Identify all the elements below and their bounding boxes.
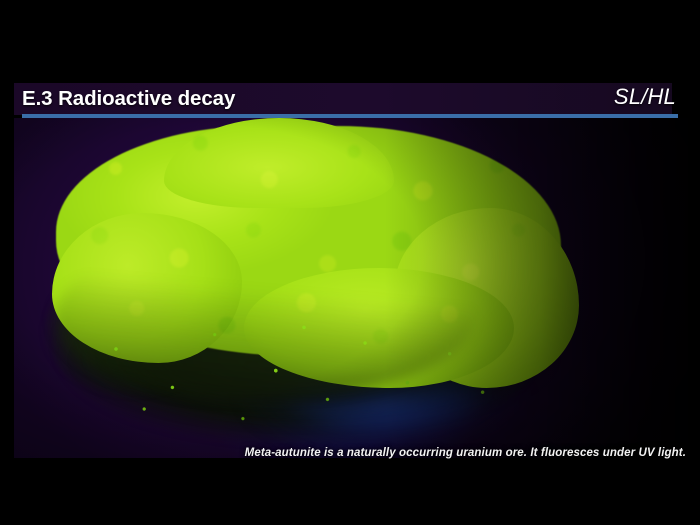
autunite-crust-bottom-lobe xyxy=(244,268,514,388)
slide-canvas: E.3 Radioactive decay SL/HL Meta-autunit… xyxy=(0,0,700,525)
course-level-label: SL/HL xyxy=(614,82,676,112)
autunite-crust-left-lobe xyxy=(52,213,242,363)
fluorescent-crust-group xyxy=(14,118,688,458)
mineral-photo xyxy=(14,118,688,458)
photo-caption: Meta-autunite is a naturally occurring u… xyxy=(245,447,686,459)
page-title: E.3 Radioactive decay xyxy=(22,84,235,114)
